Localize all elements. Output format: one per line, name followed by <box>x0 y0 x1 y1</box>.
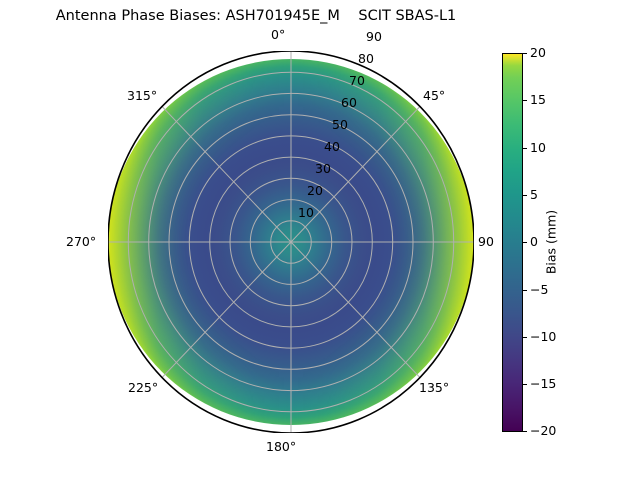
colorbar-label-m15: −15 <box>530 377 556 391</box>
colorbar-label-15: 15 <box>530 93 546 107</box>
colorbar-label-m5: −5 <box>530 283 548 297</box>
colorbar-tick-m5 <box>523 290 527 291</box>
theta-tick-180: 180° <box>266 440 296 454</box>
r-tick-80: 80 <box>358 52 374 66</box>
colorbar-gradient <box>502 53 523 432</box>
colorbar-label-0: 0 <box>530 235 538 249</box>
colorbar-label-20: 20 <box>530 46 546 60</box>
colorbar-tick-5 <box>523 195 527 196</box>
r-tick-60: 60 <box>341 96 357 110</box>
colorbar-label-10: 10 <box>530 141 546 155</box>
figure-canvas: Antenna Phase Biases: ASH701945E_M SCIT … <box>0 0 640 480</box>
theta-tick-45: 45° <box>423 89 445 103</box>
r-tick-90: 90 <box>366 30 382 44</box>
colorbar-tick-m20 <box>523 431 527 432</box>
colorbar[interactable]: 20 15 10 5 0 −5 −10 −15 −20 <box>502 53 523 432</box>
page-title: Antenna Phase Biases: ASH701945E_M SCIT … <box>0 7 512 25</box>
colorbar-tick-m10 <box>523 337 527 338</box>
colorbar-tick-0 <box>523 242 527 243</box>
colorbar-tick-10 <box>523 148 527 149</box>
colorbar-tick-15 <box>523 100 527 101</box>
polar-plot-axes[interactable]: 0° 45° 90 135° 180° 225° 270° 315° 10 20… <box>108 51 474 433</box>
r-tick-70: 70 <box>349 74 365 88</box>
r-tick-30: 30 <box>315 162 331 176</box>
theta-tick-90: 90 <box>478 235 494 249</box>
theta-tick-270: 270° <box>66 235 96 249</box>
polar-heatmap-svg <box>108 51 474 433</box>
polar-grid-spokes <box>108 51 474 433</box>
colorbar-axis-label: Bias (mm) <box>544 210 559 274</box>
colorbar-tick-m15 <box>523 384 527 385</box>
r-tick-20: 20 <box>307 184 323 198</box>
theta-tick-225: 225° <box>128 381 158 395</box>
theta-tick-315: 315° <box>127 89 157 103</box>
colorbar-label-5: 5 <box>530 188 538 202</box>
theta-tick-0: 0° <box>271 28 285 42</box>
colorbar-label-m10: −10 <box>530 330 556 344</box>
r-tick-10: 10 <box>298 206 314 220</box>
colorbar-label-m20: −20 <box>530 424 556 438</box>
colorbar-tick-20 <box>523 53 527 54</box>
r-tick-40: 40 <box>324 140 340 154</box>
r-tick-50: 50 <box>332 118 348 132</box>
theta-tick-135: 135° <box>419 381 449 395</box>
